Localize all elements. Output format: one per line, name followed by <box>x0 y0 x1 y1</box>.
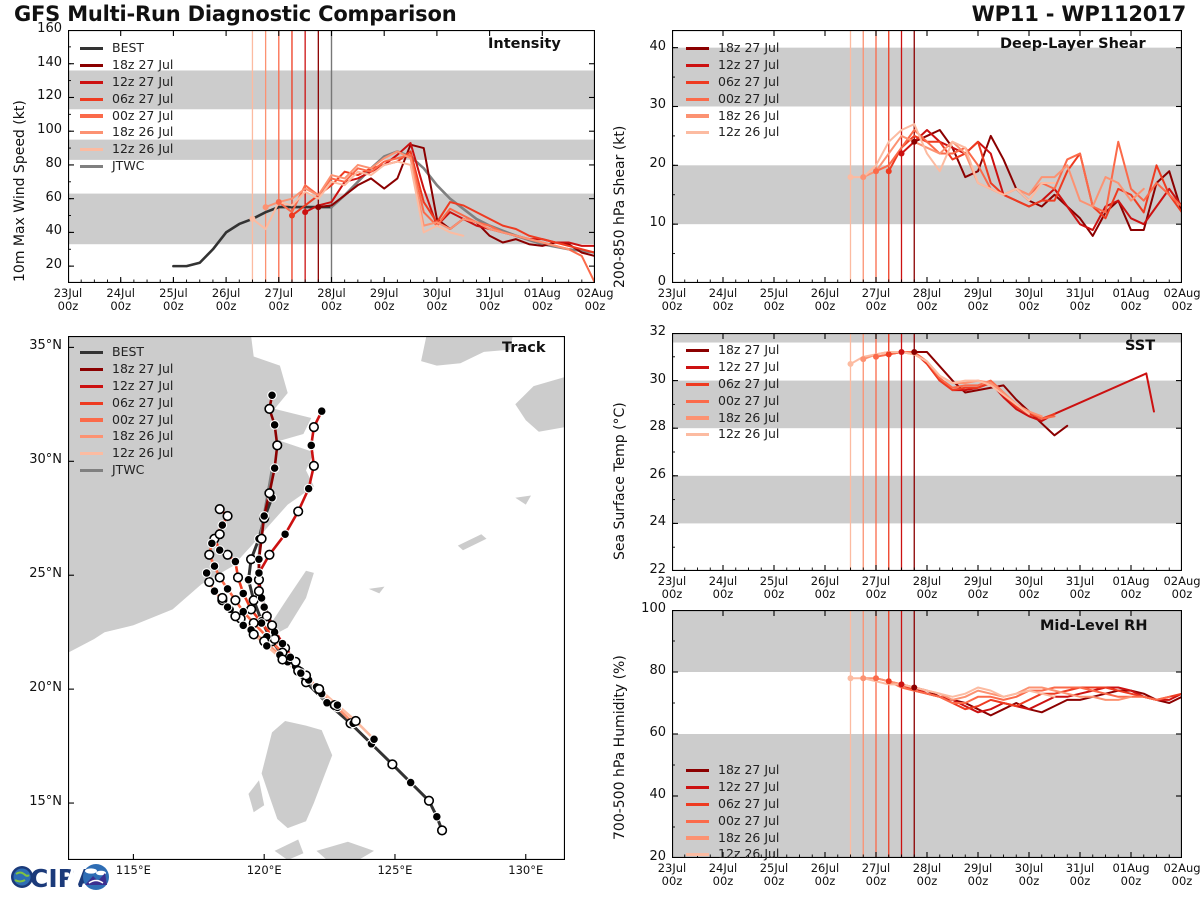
legend-swatch <box>686 803 709 806</box>
x-tick-label: 31Jul 00z <box>1052 287 1108 313</box>
legend-label: BEST <box>112 344 144 361</box>
legend-label: 18z 27 Jul <box>112 361 173 378</box>
track-point-open <box>231 596 240 605</box>
legend-label: 00z 27 Jul <box>718 393 779 410</box>
x-tick-label: 31Jul 00z <box>462 287 518 313</box>
y-tick-label: 20 <box>626 156 666 171</box>
legend-label: BEST <box>112 40 144 57</box>
x-tick-label: 30Jul 00z <box>1001 575 1057 601</box>
y-tick-label: 160 <box>22 21 62 36</box>
lat-tick-label: 15°N <box>10 794 62 809</box>
legend-label: 12z 27 Jul <box>718 57 779 74</box>
legend-swatch <box>686 47 709 50</box>
legend-swatch <box>80 385 103 388</box>
track-panel-title: Track <box>502 340 545 356</box>
x-tick-label: 01Aug 00z <box>1103 862 1159 888</box>
legend-label: 12z 27 Jul <box>718 359 779 376</box>
x-tick-label: 27Jul 00z <box>848 575 904 601</box>
legend-swatch <box>80 64 103 67</box>
init-point <box>899 151 905 157</box>
init-point <box>860 675 866 681</box>
legend-swatch <box>686 769 709 772</box>
track-point-open <box>315 685 324 694</box>
x-tick-label: 30Jul 00z <box>409 287 465 313</box>
x-tick-label: 27Jul 00z <box>848 862 904 888</box>
rh-y-axis-label: 700-500 hPa Humidity (%) <box>612 655 628 840</box>
y-tick-label: 20 <box>22 257 62 272</box>
track-point-open <box>351 717 360 726</box>
legend-label: 00z 27 Jul <box>112 108 173 125</box>
y-tick-label: 30 <box>626 97 666 112</box>
track-point-closed <box>223 603 232 612</box>
legend-label: 06z 27 Jul <box>718 376 779 393</box>
track-point-open <box>249 596 258 605</box>
legend-label: 12z 26 Jul <box>718 124 779 141</box>
y-tick-label: 10 <box>626 215 666 230</box>
x-tick-label: 28Jul 00z <box>899 287 955 313</box>
legend-swatch <box>80 351 103 354</box>
legend-label: 06z 27 Jul <box>718 796 779 813</box>
x-tick-label: 02Aug 00z <box>567 287 623 313</box>
track-point-closed <box>210 562 219 571</box>
x-tick-label: 23Jul 00z <box>40 287 96 313</box>
track-point-open <box>205 550 214 559</box>
track-point-open <box>268 621 277 630</box>
y-tick-label: 26 <box>626 467 666 482</box>
y-tick-label: 120 <box>22 88 62 103</box>
x-tick-label: 23Jul 00z <box>644 287 700 313</box>
shear-y-axis-label: 200-850 hPa Shear (kt) <box>612 126 628 288</box>
track-point-closed <box>406 778 415 787</box>
track-point-closed <box>215 546 224 555</box>
legend-swatch <box>80 452 103 455</box>
init-point <box>911 685 917 691</box>
track-point-closed <box>304 484 313 493</box>
track-point-open <box>223 512 232 521</box>
legend-label: 18z 27 Jul <box>718 342 779 359</box>
track-point-open <box>257 534 266 543</box>
lat-tick-label: 30°N <box>10 452 62 467</box>
x-tick-label: 25Jul 00z <box>746 575 802 601</box>
y-tick-label: 60 <box>22 190 62 205</box>
track-point-closed <box>218 521 227 530</box>
track-point-open <box>388 760 397 769</box>
track-point-open <box>310 462 319 471</box>
init-point <box>848 174 854 180</box>
x-tick-label: 30Jul 00z <box>1001 287 1057 313</box>
x-tick-label: 31Jul 00z <box>1052 862 1108 888</box>
init-point <box>276 199 282 205</box>
init-point <box>899 349 905 355</box>
legend-label: 12z 27 Jul <box>112 74 173 91</box>
track-point-open <box>231 612 240 621</box>
track-point-open <box>273 441 282 450</box>
lat-tick-label: 25°N <box>10 566 62 581</box>
legend-label: 18z 26 Jul <box>112 428 173 445</box>
init-point <box>860 174 866 180</box>
legend-label: 12z 27 Jul <box>112 378 173 395</box>
track-point-closed <box>260 603 269 612</box>
track-point-open <box>265 489 274 498</box>
track-point-open <box>265 405 274 414</box>
x-tick-label: 29Jul 00z <box>356 287 412 313</box>
track-point-closed <box>239 621 248 630</box>
x-tick-label: 25Jul 00z <box>746 287 802 313</box>
legend-swatch <box>80 131 103 134</box>
legend-label: 18z 27 Jul <box>718 40 779 57</box>
x-tick-label: 01Aug 00z <box>1103 287 1159 313</box>
x-tick-label: 25Jul 00z <box>145 287 201 313</box>
x-tick-label: 23Jul 00z <box>644 862 700 888</box>
legend-swatch <box>686 433 709 436</box>
legend-swatch <box>686 98 709 101</box>
x-tick-label: 24Jul 00z <box>695 862 751 888</box>
track-point-open <box>265 550 274 559</box>
legend-swatch <box>80 435 103 438</box>
legend-label: 12z 26 Jul <box>112 445 173 462</box>
x-tick-label: 25Jul 00z <box>746 862 802 888</box>
init-point <box>911 349 917 355</box>
x-tick-label: 24Jul 00z <box>695 287 751 313</box>
x-tick-label: 29Jul 00z <box>950 862 1006 888</box>
track-point-closed <box>433 812 442 821</box>
legend-label: 06z 27 Jul <box>112 91 173 108</box>
legend-swatch <box>80 114 103 117</box>
track-point-open <box>215 530 224 539</box>
init-point <box>873 675 879 681</box>
legend-swatch <box>80 148 103 151</box>
y-tick-label: 80 <box>626 663 666 678</box>
track-point-closed <box>270 464 279 473</box>
track-point-closed <box>223 585 232 594</box>
x-tick-label: 30Jul 00z <box>1001 862 1057 888</box>
lon-tick-label: 120°E <box>234 864 294 877</box>
track-point-open <box>270 635 279 644</box>
legend-label: 00z 27 Jul <box>112 412 173 429</box>
track-point-open <box>294 507 303 516</box>
x-tick-label: 02Aug 00z <box>1154 575 1200 601</box>
init-point <box>873 168 879 174</box>
init-point <box>873 354 879 360</box>
y-tick-label: 100 <box>626 601 666 616</box>
init-point <box>911 139 917 145</box>
legend-swatch <box>686 820 709 823</box>
x-tick-label: 01Aug 00z <box>1103 575 1159 601</box>
track-point-open <box>215 573 224 582</box>
x-tick-label: 23Jul 00z <box>644 575 700 601</box>
track-point-closed <box>208 539 217 548</box>
track-point-closed <box>317 407 326 416</box>
legend-label: 18z 27 Jul <box>718 762 779 779</box>
track-point-closed <box>281 530 290 539</box>
legend-swatch <box>686 131 709 134</box>
x-tick-label: 29Jul 00z <box>950 575 1006 601</box>
legend-swatch <box>80 81 103 84</box>
legend-swatch <box>686 64 709 67</box>
legend-label: 18z 26 Jul <box>718 410 779 427</box>
storm-id-title: WP11 - WP112017 <box>972 2 1186 26</box>
y-tick-label: 24 <box>626 514 666 529</box>
x-tick-label: 31Jul 00z <box>1052 575 1108 601</box>
track-point-open <box>234 573 243 582</box>
init-point <box>289 213 295 219</box>
track-point-closed <box>255 555 264 564</box>
track-point-closed <box>270 421 279 430</box>
shaded-band <box>672 476 1182 524</box>
legend-swatch <box>80 469 103 472</box>
legend-label: 12z 27 Jul <box>718 779 779 796</box>
track-point-closed <box>255 569 264 578</box>
track-point-open <box>438 826 447 835</box>
legend-swatch <box>80 98 103 101</box>
init-point <box>886 678 892 684</box>
track-point-closed <box>333 701 342 710</box>
track-point-closed <box>202 569 211 578</box>
init-point <box>263 204 269 210</box>
legend-label: JTWC <box>112 158 144 175</box>
legend-label: JTWC <box>112 462 144 479</box>
x-tick-label: 26Jul 00z <box>797 287 853 313</box>
legend-label: 12z 26 Jul <box>112 141 173 158</box>
x-tick-label: 02Aug 00z <box>1154 287 1200 313</box>
legend-label: 12z 26 Jul <box>718 426 779 443</box>
x-tick-label: 27Jul 00z <box>848 287 904 313</box>
track-point-open <box>310 423 319 432</box>
cira-logo: CIRA <box>4 856 114 898</box>
legend-label: 18z 26 Jul <box>718 830 779 847</box>
track-point-closed <box>239 589 248 598</box>
track-point-open <box>425 796 434 805</box>
legend-swatch <box>686 383 709 386</box>
y-tick-label: 28 <box>626 419 666 434</box>
y-tick-label: 40 <box>22 223 62 238</box>
x-tick-label: 01Aug 00z <box>514 287 570 313</box>
legend-label: 18z 26 Jul <box>718 108 779 125</box>
legend-swatch <box>80 165 103 168</box>
legend-swatch <box>686 400 709 403</box>
track-point-closed <box>210 587 219 596</box>
y-tick-label: 80 <box>22 156 62 171</box>
track-point-closed <box>244 575 253 584</box>
intensity-panel-title: Intensity <box>488 36 561 52</box>
track-point-closed <box>297 669 306 678</box>
rh-panel-title: Mid-Level RH <box>1040 618 1147 634</box>
init-point <box>848 675 854 681</box>
page-title: GFS Multi-Run Diagnostic Comparison <box>14 2 456 26</box>
lon-tick-label: 125°E <box>365 864 425 877</box>
sst-panel-title: SST <box>1125 338 1155 354</box>
init-point <box>315 204 321 210</box>
lat-tick-label: 35°N <box>10 338 62 353</box>
legend-swatch <box>80 418 103 421</box>
shear-panel-title: Deep-Layer Shear <box>1000 36 1146 52</box>
track-point-closed <box>263 642 272 651</box>
legend-label: 12z 26 Jul <box>718 846 779 863</box>
track-point-open <box>255 587 264 596</box>
x-tick-label: 28Jul 00z <box>899 862 955 888</box>
x-tick-label: 26Jul 00z <box>198 287 254 313</box>
x-tick-label: 02Aug 00z <box>1154 862 1200 888</box>
legend-swatch <box>686 114 709 117</box>
x-tick-label: 26Jul 00z <box>797 862 853 888</box>
init-point <box>848 361 854 367</box>
track-point-open <box>249 630 258 639</box>
track-point-closed <box>260 512 269 521</box>
x-tick-label: 28Jul 00z <box>899 575 955 601</box>
legend-swatch <box>80 402 103 405</box>
y-tick-label: 32 <box>626 324 666 339</box>
track-point-closed <box>370 735 379 744</box>
init-point <box>899 681 905 687</box>
x-tick-label: 27Jul 00z <box>251 287 307 313</box>
legend-swatch <box>686 853 709 856</box>
x-tick-label: 28Jul 00z <box>304 287 360 313</box>
legend-swatch <box>80 368 103 371</box>
init-point <box>249 216 255 222</box>
track-point-open <box>218 594 227 603</box>
track-point-closed <box>307 441 316 450</box>
init-point <box>886 168 892 174</box>
legend-label: 18z 27 Jul <box>112 57 173 74</box>
legend-swatch <box>686 416 709 419</box>
y-tick-label: 100 <box>22 122 62 137</box>
legend-swatch <box>686 349 709 352</box>
init-point <box>886 351 892 357</box>
shaded-band <box>672 165 1182 224</box>
legend-swatch <box>686 81 709 84</box>
y-tick-label: 60 <box>626 725 666 740</box>
track-point-open <box>215 505 224 514</box>
track-point-closed <box>268 391 277 400</box>
x-tick-label: 29Jul 00z <box>950 287 1006 313</box>
legend-label: 00z 27 Jul <box>718 91 779 108</box>
init-point <box>860 356 866 362</box>
init-point <box>302 209 308 215</box>
track-point-closed <box>231 557 240 566</box>
legend-label: 18z 26 Jul <box>112 124 173 141</box>
y-tick-label: 40 <box>626 39 666 54</box>
x-tick-label: 24Jul 00z <box>695 575 751 601</box>
track-point-open <box>223 550 232 559</box>
track-point-open <box>278 655 287 664</box>
track-point-open <box>205 578 214 587</box>
lon-tick-label: 130°E <box>496 864 556 877</box>
lat-tick-label: 20°N <box>10 680 62 695</box>
legend-label: 00z 27 Jul <box>718 813 779 830</box>
y-tick-label: 40 <box>626 787 666 802</box>
legend-label: 06z 27 Jul <box>718 74 779 91</box>
legend-swatch <box>80 47 103 50</box>
legend-swatch <box>686 786 709 789</box>
track-point-open <box>247 605 256 614</box>
legend-swatch <box>686 836 709 839</box>
y-tick-label: 140 <box>22 55 62 70</box>
x-tick-label: 24Jul 00z <box>93 287 149 313</box>
legend-label: 06z 27 Jul <box>112 395 173 412</box>
y-tick-label: 30 <box>626 372 666 387</box>
x-tick-label: 26Jul 00z <box>797 575 853 601</box>
legend-swatch <box>686 366 709 369</box>
